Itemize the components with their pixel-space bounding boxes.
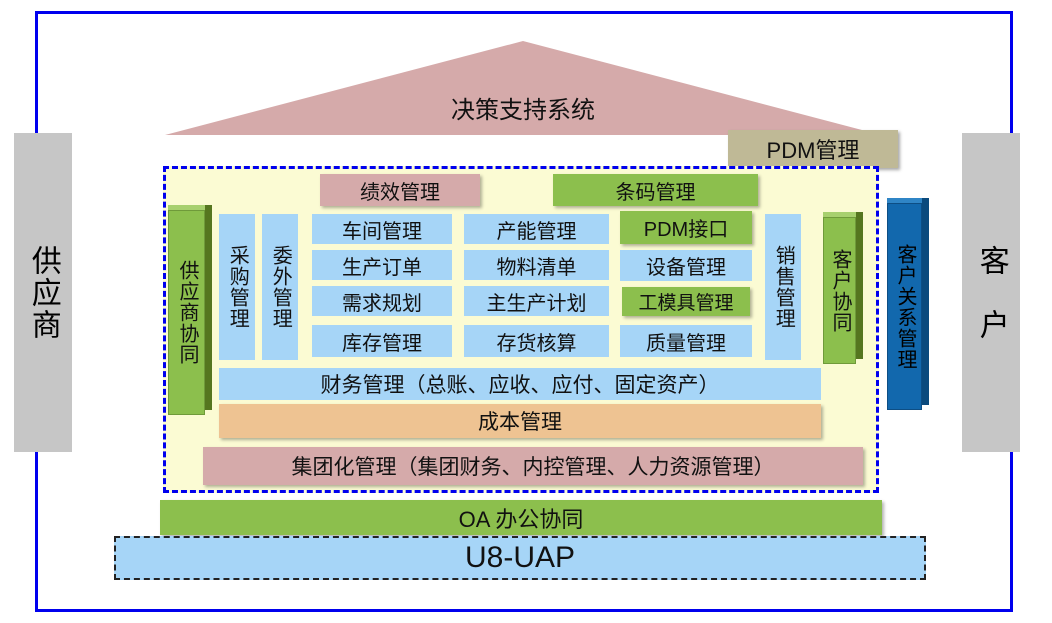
- module-planning-0[interactable]: 产能管理: [464, 214, 609, 244]
- diagram-canvas: 决策支持系统 PDM管理 供应商 客 户 绩效管理 条码管理 供应商协同 采购管…: [0, 0, 1052, 623]
- module-equipment-2[interactable]: 工模具管理: [622, 287, 750, 316]
- banner-performance[interactable]: 绩效管理: [320, 174, 480, 206]
- pdm-admin-box[interactable]: PDM管理: [728, 130, 898, 168]
- module-production-3[interactable]: 库存管理: [312, 325, 452, 357]
- bar-supplier-collaboration[interactable]: 供应商协同: [168, 205, 212, 415]
- bar-supplier-collaboration-label: 供应商协同: [168, 210, 205, 415]
- bar-crm[interactable]: 客户关系管理: [887, 198, 929, 410]
- module-production-1[interactable]: 生产订单: [312, 250, 452, 280]
- module-planning-2[interactable]: 主生产计划: [464, 286, 609, 316]
- roof-label: 决策支持系统: [165, 90, 881, 125]
- module-planning-3[interactable]: 存货核算: [464, 325, 609, 357]
- bar-side-face: [856, 212, 863, 359]
- bar-finance[interactable]: 财务管理（总账、应收、应付、固定资产）: [219, 368, 821, 400]
- module-planning-1[interactable]: 物料清单: [464, 250, 609, 280]
- column-sales[interactable]: 销售管理: [765, 214, 801, 360]
- bar-customer-collaboration-label: 客户协同: [823, 217, 856, 364]
- bar-side-face: [922, 198, 929, 405]
- module-equipment-0[interactable]: PDM接口: [620, 211, 752, 244]
- banner-barcode[interactable]: 条码管理: [553, 174, 758, 206]
- module-production-0[interactable]: 车间管理: [312, 214, 452, 244]
- actor-supplier: 供应商: [14, 133, 72, 452]
- module-equipment-3[interactable]: 质量管理: [620, 325, 752, 357]
- bar-customer-collaboration[interactable]: 客户协同: [823, 212, 863, 364]
- bar-crm-label: 客户关系管理: [887, 203, 922, 410]
- module-production-2[interactable]: 需求规划: [312, 286, 452, 316]
- bar-side-face: [205, 205, 212, 410]
- column-purchasing[interactable]: 采购管理: [219, 214, 255, 360]
- bar-cost[interactable]: 成本管理: [219, 404, 821, 438]
- column-outsourcing[interactable]: 委外管理: [262, 214, 298, 360]
- module-equipment-1[interactable]: 设备管理: [620, 250, 752, 281]
- bar-oa[interactable]: OA 办公协同: [160, 500, 882, 535]
- bar-uap[interactable]: U8-UAP: [114, 536, 926, 580]
- bar-group-management[interactable]: 集团化管理（集团财务、内控管理、人力资源管理）: [203, 447, 863, 485]
- actor-customer: 客 户: [962, 133, 1020, 452]
